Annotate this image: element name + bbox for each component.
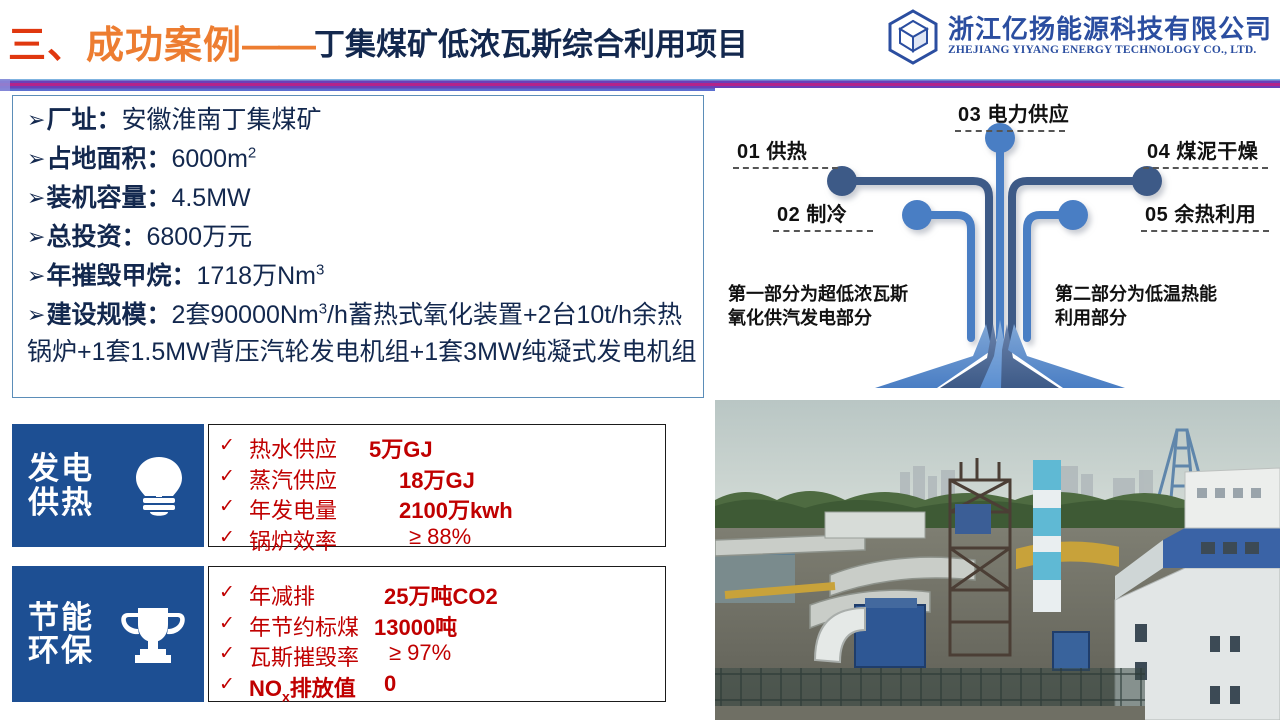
stat-value: 25万吨CO2 [384, 579, 498, 611]
stat-value: 0 [384, 671, 396, 697]
title-dash: —— [242, 25, 314, 67]
stat-tag-power-heat: 发电 供热 [12, 424, 204, 547]
diagram-underline-01 [733, 167, 838, 169]
project-info-box: ➢ 厂址： 安徽淮南丁集煤矿 ➢ 占地面积： 6000m2 ➢ 装机容量： 4.… [12, 95, 704, 398]
info-value-text: 6000m [171, 145, 247, 173]
lightbulb-icon [130, 453, 188, 519]
diagram-node-01-dot [827, 166, 857, 196]
bullet-arrow-icon: ➢ [27, 183, 45, 212]
slide-header: 三、成功案例——丁集煤矿低浓瓦斯综合利用项目 浙江亿扬能源科技有限公司 ZHEJ… [0, 0, 1280, 80]
stat-row: ✓ 年发电量 2100万kwh [209, 492, 665, 523]
stat-row: ✓ 年减排 25万吨CO2 [209, 578, 665, 609]
diagram-caption-left: 第一部分为超低浓瓦斯 氧化供汽发电部分 [728, 283, 908, 331]
diagram-label-03-text: 电力供应 [987, 104, 1069, 126]
diagram-underline-03 [955, 130, 1065, 132]
stat-value: ≥ 97% [389, 640, 451, 666]
stat-row: ✓ NOx排放值 0 [209, 670, 665, 701]
list-item: ➢ 厂址： 安徽淮南丁集煤矿 [27, 104, 697, 137]
diagram-label-01-num: 01 [737, 141, 760, 163]
list-item: ➢ 年摧毁甲烷： 1718万Nm3 [27, 260, 697, 293]
stat-tag-label: 节能 环保 [28, 601, 94, 668]
plant-photo-illustration [715, 400, 1280, 720]
company-logo: 浙江亿扬能源科技有限公司 ZHEJIANG YIYANG ENERGY TECH… [886, 8, 1272, 66]
info-label: 厂址： [46, 104, 121, 137]
check-icon: ✓ [219, 642, 235, 665]
page-title: 三、成功案例——丁集煤矿低浓瓦斯综合利用项目 [8, 14, 748, 69]
stat-tag-energy-env: 节能 环保 [12, 566, 204, 702]
diagram-underline-02 [773, 230, 873, 232]
diagram-caption-right: 第二部分为低温热能 利用部分 [1055, 283, 1217, 331]
info-label: 建设规模： [46, 299, 171, 332]
stat-name-nox: NO [249, 676, 282, 701]
check-icon: ✓ [219, 434, 235, 457]
diagram-label-02-text: 制冷 [806, 204, 847, 226]
diagram-label-02: 02 制冷 [777, 198, 847, 227]
diagram-label-04-text: 煤泥干燥 [1176, 141, 1258, 163]
info-label: 装机容量： [46, 182, 171, 215]
info-value-sup: 3 [319, 301, 327, 318]
list-item: ➢ 总投资： 6800万元 [27, 221, 697, 254]
info-label: 占地面积： [46, 143, 171, 176]
info-value: 1718万Nm3 [196, 260, 324, 293]
stat-name: 年减排 [249, 579, 315, 611]
diagram-node-02-dot [902, 200, 932, 230]
diagram-node-03-dot [985, 123, 1015, 153]
stat-panel-energy-env: ✓ 年减排 25万吨CO2 ✓ 年节约标煤 13000吨 ✓ 瓦斯摧毁率 ≥ 9… [208, 566, 666, 702]
diagram-caption-left-line1: 第一部分为超低浓瓦斯 [728, 283, 908, 307]
diagram-underline-05 [1141, 230, 1269, 232]
list-item: ➢ 占地面积： 6000m2 [27, 143, 697, 176]
check-icon: ✓ [219, 581, 235, 604]
plant-photo [715, 400, 1280, 720]
diagram-label-04-num: 04 [1147, 141, 1170, 163]
diagram-label-01: 01 供热 [737, 135, 807, 164]
diagram-label-01-text: 供热 [766, 141, 807, 163]
stat-value: 2100万kwh [399, 493, 513, 525]
stat-name: 年节约标煤 [249, 610, 359, 642]
bullet-arrow-icon: ➢ [27, 300, 45, 329]
diagram-caption-right-line2: 利用部分 [1055, 307, 1217, 331]
bullet-arrow-icon: ➢ [27, 261, 45, 290]
company-name-block: 浙江亿扬能源科技有限公司 ZHEJIANG YIYANG ENERGY TECH… [948, 16, 1272, 58]
diagram-underline-04 [1143, 167, 1268, 169]
diagram-label-02-num: 02 [777, 204, 800, 226]
stat-row: ✓ 瓦斯摧毁率 ≥ 97% [209, 639, 665, 670]
list-item: ➢ 装机容量： 4.5MW [27, 182, 697, 215]
info-value-sup: 2 [248, 145, 256, 162]
info-value: 4.5MW [171, 182, 250, 215]
info-value-wrapline: 锅炉+1套1.5MW背压汽轮发电机组+1套3MW纯凝式发电机组 [27, 336, 697, 369]
stat-tag-line2: 供热 [28, 486, 94, 519]
check-icon: ✓ [219, 673, 235, 696]
diagram-caption-left-line2: 氧化供汽发电部分 [728, 307, 908, 331]
diagram-caption-right-line1: 第二部分为低温热能 [1055, 283, 1217, 307]
diagram-label-04: 04 煤泥干燥 [1147, 135, 1258, 164]
stat-tag-line1: 发电 [28, 452, 94, 485]
slide-root: 三、成功案例——丁集煤矿低浓瓦斯综合利用项目 浙江亿扬能源科技有限公司 ZHEJ… [0, 0, 1280, 720]
stat-name: 热水供应 [249, 432, 337, 464]
check-icon: ✓ [219, 495, 235, 518]
stat-value: 13000吨 [374, 610, 457, 642]
divider-left-cap [0, 79, 10, 91]
diagram-label-05-num: 05 [1145, 204, 1168, 226]
process-diagram: 01 供热 02 制冷 03 电力供应 04 煤泥干燥 05 余热利用 第一部分… [715, 88, 1280, 400]
bullet-arrow-icon: ➢ [27, 105, 45, 134]
title-number: 三、 [8, 25, 86, 67]
stat-value: 5万GJ [369, 432, 433, 464]
project-info-list: ➢ 厂址： 安徽淮南丁集煤矿 ➢ 占地面积： 6000m2 ➢ 装机容量： 4.… [27, 104, 697, 369]
diagram-node-04-dot [1132, 166, 1162, 196]
check-icon: ✓ [219, 526, 235, 549]
company-name-en: ZHEJIANG YIYANG ENERGY TECHNOLOGY CO., L… [948, 43, 1272, 58]
info-value-text: 1718万Nm [196, 262, 316, 290]
bullet-arrow-icon: ➢ [27, 222, 45, 251]
info-label: 总投资： [46, 221, 146, 254]
diagram-label-03-num: 03 [958, 104, 981, 126]
stat-row: ✓ 锅炉效率 ≥ 88% [209, 523, 665, 554]
stat-row: ✓ 年节约标煤 13000吨 [209, 609, 665, 640]
info-value-text-a: 2套90000Nm [171, 301, 318, 329]
hexagon-cube-logo-icon [886, 8, 940, 66]
diagram-node-05-dot [1058, 200, 1088, 230]
trophy-icon [116, 604, 190, 664]
stat-name: 瓦斯摧毁率 [249, 640, 359, 672]
stat-value: ≥ 88% [409, 524, 471, 550]
info-value: 6000m2 [171, 143, 256, 176]
stat-tag-line2: 环保 [28, 634, 94, 667]
stat-block-power-heat: 发电 供热 ✓ 热水供应 5万GJ [12, 424, 666, 547]
title-main: 成功案例 [86, 25, 242, 67]
info-value-text-b: /h蓄热式氧化装置+2台10t/h余热 [327, 301, 682, 329]
stat-panel-power-heat: ✓ 热水供应 5万GJ ✓ 蒸汽供应 18万GJ ✓ 年发电量 2100万kwh… [208, 424, 666, 547]
stat-name: 蒸汽供应 [249, 463, 337, 495]
info-value: 2套90000Nm3/h蓄热式氧化装置+2台10t/h余热 [171, 299, 682, 332]
title-subtitle: 丁集煤矿低浓瓦斯综合利用项目 [314, 27, 748, 62]
stat-row: ✓ 蒸汽供应 18万GJ [209, 462, 665, 493]
bullet-arrow-icon: ➢ [27, 144, 45, 173]
diagram-label-05-text: 余热利用 [1174, 204, 1256, 226]
check-icon: ✓ [219, 612, 235, 635]
list-item: ➢ 建设规模： 2套90000Nm3/h蓄热式氧化装置+2台10t/h余热 [27, 299, 697, 332]
company-name-cn: 浙江亿扬能源科技有限公司 [948, 16, 1272, 43]
stat-name-nox-suffix: 排放值 [290, 676, 356, 701]
check-icon: ✓ [219, 465, 235, 488]
stat-name: 锅炉效率 [249, 524, 337, 556]
stat-name: 年发电量 [249, 493, 337, 525]
stat-row: ✓ 热水供应 5万GJ [209, 431, 665, 462]
stat-tag-line1: 节能 [28, 601, 94, 634]
stat-value: 18万GJ [399, 463, 475, 495]
info-value-sup: 3 [316, 262, 324, 279]
diagram-label-05: 05 余热利用 [1145, 198, 1256, 227]
stat-block-energy-env: 节能 环保 ✓ 年减排 25万吨CO2 [12, 566, 666, 702]
diagram-label-03: 03 电力供应 [958, 98, 1069, 127]
info-label: 年摧毁甲烷： [46, 260, 196, 293]
stat-name: NOx排放值 [249, 671, 356, 704]
info-value: 6800万元 [146, 221, 252, 254]
info-value: 安徽淮南丁集煤矿 [121, 104, 321, 137]
stat-tag-label: 发电 供热 [28, 452, 94, 519]
